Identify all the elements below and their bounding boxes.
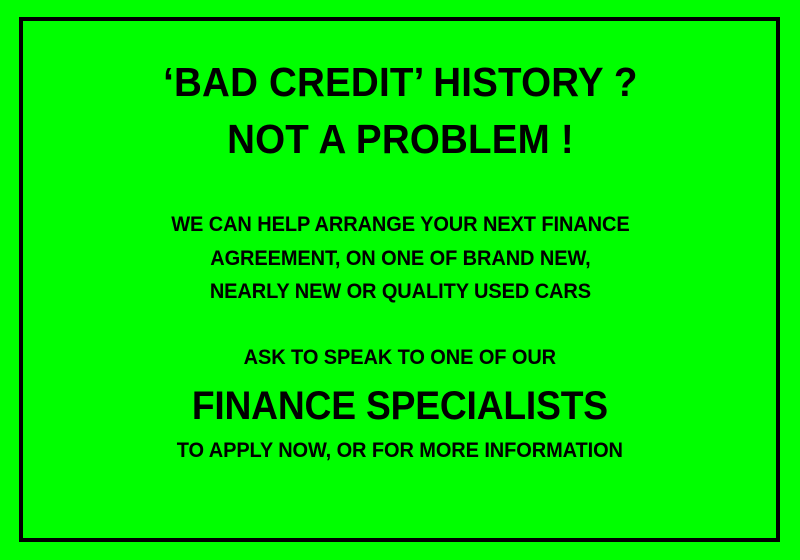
body-line-2: AGREEMENT, ON ONE OF BRAND NEW, — [171, 248, 629, 270]
body-line-3: NEARLY NEW OR QUALITY USED CARS — [171, 281, 629, 303]
headline-line-2: NOT A PROBLEM ! — [227, 119, 574, 160]
body-copy-block: WE CAN HELP ARRANGE YOUR NEXT FINANCE AG… — [154, 214, 647, 303]
advertisement-poster: ‘BAD CREDIT’ HISTORY ? NOT A PROBLEM ! W… — [0, 0, 800, 560]
cta-lead-in-line: ASK TO SPEAK TO ONE OF OUR — [177, 347, 623, 369]
body-line-1: WE CAN HELP ARRANGE YOUR NEXT FINANCE — [171, 214, 629, 236]
headline-line-1: ‘BAD CREDIT’ HISTORY ? — [163, 62, 638, 103]
cta-emphasis-line: FINANCE SPECIALISTS — [177, 386, 623, 426]
cta-follow-up-line: TO APPLY NOW, OR FOR MORE INFORMATION — [177, 440, 623, 462]
call-to-action-block: ASK TO SPEAK TO ONE OF OUR FINANCE SPECI… — [160, 347, 640, 462]
poster-content: ‘BAD CREDIT’ HISTORY ? NOT A PROBLEM ! W… — [0, 0, 800, 560]
